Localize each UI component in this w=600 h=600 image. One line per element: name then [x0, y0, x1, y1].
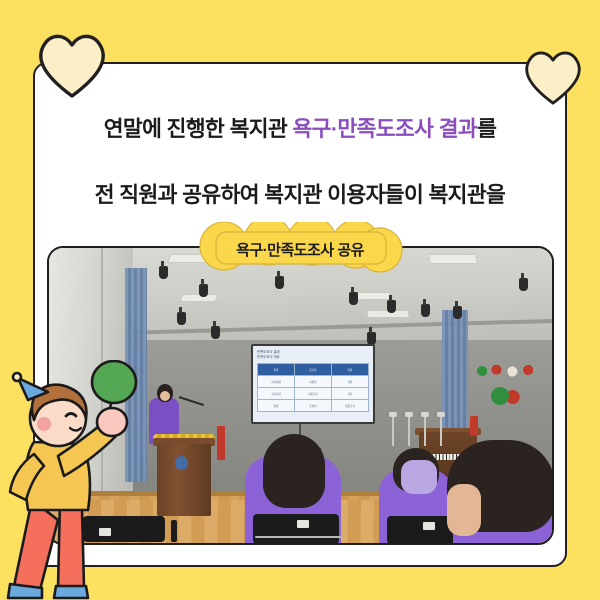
presenter-face: [160, 391, 170, 401]
slide-col-1: 응답자: [295, 364, 332, 376]
slide-table-header-row: 항목 응답자 비율: [258, 364, 369, 376]
chair-tag: [423, 522, 435, 530]
status-badge: 욕구·만족도조사 공유: [192, 222, 408, 274]
podium: [157, 444, 211, 516]
stage-spotlight: [387, 300, 396, 313]
stanchion-post: [424, 416, 426, 446]
stanchion-post: [408, 416, 410, 446]
slide-table-row: 조사대상 이용자 직원: [258, 376, 369, 388]
chair-leg: [171, 520, 177, 542]
stage-spotlight: [159, 266, 168, 279]
audience-member-face: [447, 484, 481, 536]
stage-spotlight: [199, 284, 208, 297]
headline-highlight: 욕구·만족도조사 결과: [293, 117, 478, 141]
podium-emblem: [175, 456, 188, 470]
slide-cell: 방법: [258, 400, 295, 412]
slide-cell: 방문조사: [332, 400, 369, 412]
audience-member-hair: [263, 434, 325, 508]
balloon-icon: [92, 361, 136, 403]
character-hand: [97, 408, 127, 436]
character-illustration: [0, 360, 146, 600]
chair-tag: [297, 520, 309, 528]
headline-line1-pre: 연말에 진행한 복지관: [104, 117, 293, 141]
slide-cell: 조사기간: [258, 388, 295, 400]
slide-cell: 설문기간: [295, 388, 332, 400]
slide-cell: 조사대상: [258, 376, 295, 388]
christmas-decoration: [472, 358, 544, 384]
stage-spotlight: [453, 306, 462, 319]
slide-table-row: 조사기간 설문기간 기간: [258, 388, 369, 400]
headline-line2: 전 직원과 공유하여 복지관 이용자들이 복지관을: [95, 183, 505, 207]
slide-table: 항목 응답자 비율 조사대상 이용자 직원 조사기간 설문기간 기간: [257, 363, 369, 412]
stage-spotlight: [519, 278, 528, 291]
mascot-character: [0, 360, 146, 600]
stanchion-post: [440, 416, 442, 446]
projection-screen: 만족도조사 결과 만족도조사 개요 항목 응답자 비율 조사대상 이용자 직원 …: [251, 344, 375, 424]
heart-decoration-left: [34, 30, 35, 31]
slide-title-line2: 만족도조사 개요: [257, 355, 369, 360]
slide-cell: 직원: [332, 376, 369, 388]
stage-spotlight: [349, 292, 358, 305]
stage-spotlight: [177, 312, 186, 325]
slide-cell: 기간: [332, 388, 369, 400]
fire-extinguisher: [470, 416, 478, 436]
badge-label: 욕구·만족도조사 공유: [192, 222, 408, 274]
audience-member-strap: [401, 460, 437, 494]
slide-table-row: 방법 온라인 방문조사: [258, 400, 369, 412]
stage-spotlight: [211, 326, 220, 339]
stage-spotlight: [275, 276, 284, 289]
slide-col-2: 비율: [332, 364, 369, 376]
heart-decoration-right: [521, 47, 522, 48]
poster-canvas: 연말에 진행한 복지관 욕구·만족도조사 결과를 전 직원과 공유하여 복지관 …: [0, 0, 600, 600]
chair-frame: [255, 536, 343, 538]
chair: [253, 514, 339, 544]
christmas-wreath: [484, 386, 524, 406]
ceiling-light-panel: [428, 254, 478, 264]
slide-col-0: 항목: [258, 364, 295, 376]
slide-cell: 이용자: [295, 376, 332, 388]
korean-flag: [217, 426, 225, 460]
character-leg-front: [58, 500, 84, 588]
headline-line1-post: 를: [477, 117, 496, 141]
slide-cell: 온라인: [295, 400, 332, 412]
character-leg-back: [14, 500, 58, 590]
heart-icon: [521, 47, 585, 107]
stanchion-post: [392, 416, 394, 446]
heart-icon: [34, 30, 110, 100]
stage-spotlight: [421, 304, 430, 317]
